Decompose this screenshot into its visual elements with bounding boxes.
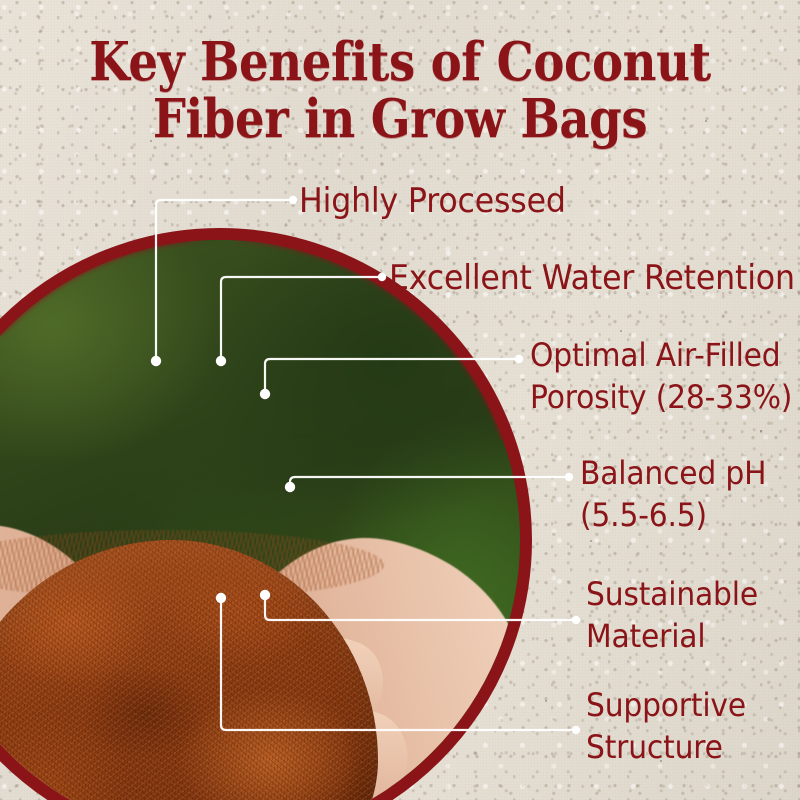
benefit-text: Highly Processed <box>299 180 566 222</box>
benefit-text: Structure <box>586 726 746 768</box>
paper-speck <box>545 700 547 702</box>
benefit-label-highly-processed: Highly Processed <box>299 180 566 222</box>
title-line-1: Key Benefits of Coconut <box>48 34 752 91</box>
paper-speck <box>760 430 762 432</box>
benefit-text: (5.5-6.5) <box>580 494 766 536</box>
benefit-label-supportive-structure: Supportive Structure <box>586 684 746 768</box>
benefit-text: Material <box>586 615 758 657</box>
benefit-text: Balanced pH <box>580 452 766 494</box>
benefit-label-sustainable-material: Sustainable Material <box>586 573 758 657</box>
benefit-label-air-filled-porosity: Optimal Air-Filled Porosity (28-33%) <box>530 334 792 418</box>
benefit-label-water-retention: Excellent Water Retention <box>389 257 795 299</box>
infographic-poster: Key Benefits of Coconut Fiber in Grow Ba… <box>0 0 800 800</box>
paper-speck <box>590 540 592 542</box>
photo-foliage-backdrop <box>0 240 520 800</box>
benefit-text: Sustainable <box>586 573 758 615</box>
coir-fiber-mound <box>0 540 378 800</box>
benefit-text: Optimal Air-Filled <box>530 334 792 376</box>
title-line-2: Fiber in Grow Bags <box>48 91 752 148</box>
paper-speck <box>480 175 482 177</box>
paper-speck <box>620 330 622 332</box>
page-title: Key Benefits of Coconut Fiber in Grow Ba… <box>48 34 752 148</box>
benefit-text: Excellent Water Retention <box>389 257 795 299</box>
coconut-fiber-photo <box>0 228 532 800</box>
benefit-label-balanced-ph: Balanced pH (5.5-6.5) <box>580 452 766 536</box>
benefit-text: Supportive <box>586 684 746 726</box>
benefit-text: Porosity (28-33%) <box>530 376 792 418</box>
